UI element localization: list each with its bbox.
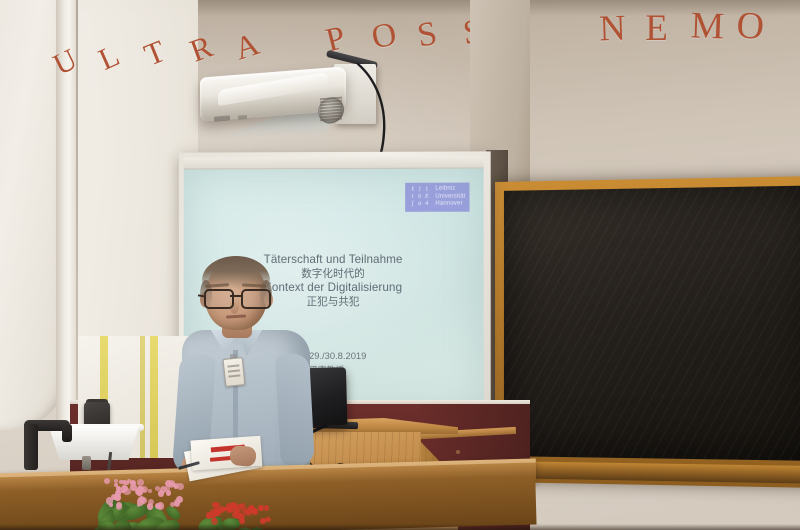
wall-pilaster xyxy=(56,0,78,425)
lecture-hall-photo: ULTRAPOSSENEMO ℓſ1i6Ƶ∫ɑ4 xyxy=(0,0,800,530)
chalk-ledge xyxy=(501,461,800,484)
glasses-lens-left xyxy=(204,289,234,309)
presenter-hand-right xyxy=(229,445,257,468)
projector-brand-mark xyxy=(214,115,230,121)
plant-flower xyxy=(138,486,143,491)
plant-flower xyxy=(258,505,264,511)
plant-flower xyxy=(115,490,121,496)
wall-sink xyxy=(46,426,142,460)
chalk-residue xyxy=(504,185,800,461)
presenter-right-arm xyxy=(275,353,315,467)
plant-flower xyxy=(265,517,270,522)
glasses-lens-right xyxy=(241,289,271,309)
plant-flower xyxy=(148,489,152,493)
panel-stripe-3 xyxy=(150,336,158,458)
plant-flower xyxy=(158,490,164,496)
plant-flower xyxy=(235,512,242,519)
blackboard-surface xyxy=(504,185,800,461)
projector-body xyxy=(200,66,346,121)
plant-flower xyxy=(157,502,164,509)
projector-badge xyxy=(238,115,247,120)
bottom-vignette xyxy=(0,524,800,530)
shirt-button xyxy=(234,404,238,408)
plant-flower xyxy=(137,503,141,507)
projector-vent xyxy=(320,97,342,123)
plant-flower xyxy=(177,483,184,490)
plant-flower xyxy=(109,503,113,507)
plant-flower xyxy=(104,478,110,484)
plant-flower xyxy=(125,481,129,485)
sink-drain xyxy=(82,456,91,470)
plant-flower xyxy=(166,490,172,496)
faucet-column[interactable] xyxy=(24,424,38,470)
plant-flower xyxy=(212,502,218,508)
plant-flower xyxy=(264,505,269,510)
plant-flower xyxy=(169,482,175,488)
potted-plant-pink xyxy=(92,478,188,530)
projector-top-shell xyxy=(218,72,328,106)
glasses-bridge xyxy=(230,295,242,297)
blackboard xyxy=(495,176,800,488)
name-badge xyxy=(223,357,246,387)
eyeglasses xyxy=(203,289,269,306)
ceiling-projector xyxy=(196,58,372,150)
panel-stripe-2 xyxy=(140,336,145,458)
screen-top-rail xyxy=(184,156,484,169)
plant-flower xyxy=(248,505,255,512)
faucet-spout xyxy=(62,424,72,442)
